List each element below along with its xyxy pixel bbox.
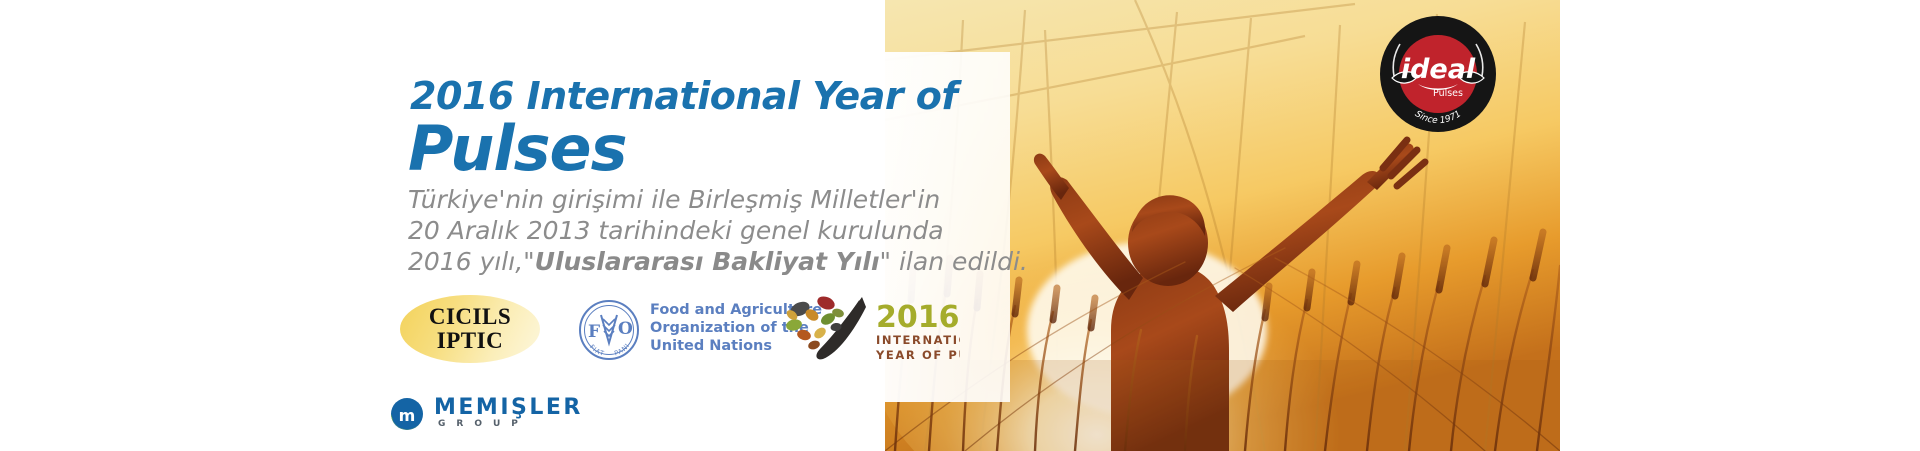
ideal-pulses-logo: ideal Pulses Since 1971 bbox=[1378, 14, 1498, 134]
description-line-3: 2016 yılı,"Uluslararası Bakliyat Yılı" i… bbox=[408, 246, 1008, 277]
cicils-iptic-logo: CICILS IPTIC bbox=[400, 295, 540, 363]
iyp-2016-logo: 2016 INTERNATIONAL YEAR OF PULSES bbox=[780, 287, 960, 367]
description-line-3-prefix: 2016 yılı," bbox=[408, 247, 535, 276]
memisler-sub-text: GROUP bbox=[438, 419, 529, 429]
description-block: Türkiye'nin girişimi ile Birleşmiş Mille… bbox=[408, 184, 1008, 277]
promo-banner: ideal Pulses Since 1971 2016 Internation… bbox=[0, 0, 1920, 451]
iyp-logo-illustration: 2016 INTERNATIONAL YEAR OF PULSES bbox=[780, 287, 960, 367]
description-line-3-emphasis: Uluslararası Bakliyat Yılı bbox=[535, 247, 880, 276]
cicils-line-2: IPTIC bbox=[400, 329, 540, 353]
iyp-line-1: INTERNATIONAL bbox=[876, 333, 960, 347]
cicils-line-1: CICILS bbox=[400, 305, 540, 329]
headline-line-2: Pulses bbox=[408, 112, 626, 185]
cicils-text: CICILS IPTIC bbox=[400, 305, 540, 353]
memisler-wordmark: MEMIŞLER bbox=[434, 395, 583, 420]
description-line-2: 20 Aralık 2013 tarihindeki genel kurulun… bbox=[408, 215, 1008, 246]
iyp-year-text: 2016 bbox=[876, 300, 960, 335]
memisler-mark-icon: m bbox=[390, 397, 424, 431]
fao-emblem-icon: F O FIAT PANIS bbox=[578, 299, 640, 361]
description-line-1: Türkiye'nin girişimi ile Birleşmiş Mille… bbox=[408, 184, 1008, 215]
fao-letter-f: F bbox=[588, 322, 600, 342]
fao-letter-o: O bbox=[618, 319, 633, 339]
iyp-line-2: YEAR OF PULSES bbox=[875, 348, 960, 362]
content-area: 2016 International Year of Pulses Türkiy… bbox=[0, 0, 1010, 451]
memisler-mark-letter: m bbox=[399, 406, 416, 425]
ideal-sub-text: Pulses bbox=[1433, 88, 1463, 99]
ideal-brand-text: ideal bbox=[1401, 54, 1476, 85]
description-line-3-suffix: " ilan edildi. bbox=[880, 247, 1028, 276]
